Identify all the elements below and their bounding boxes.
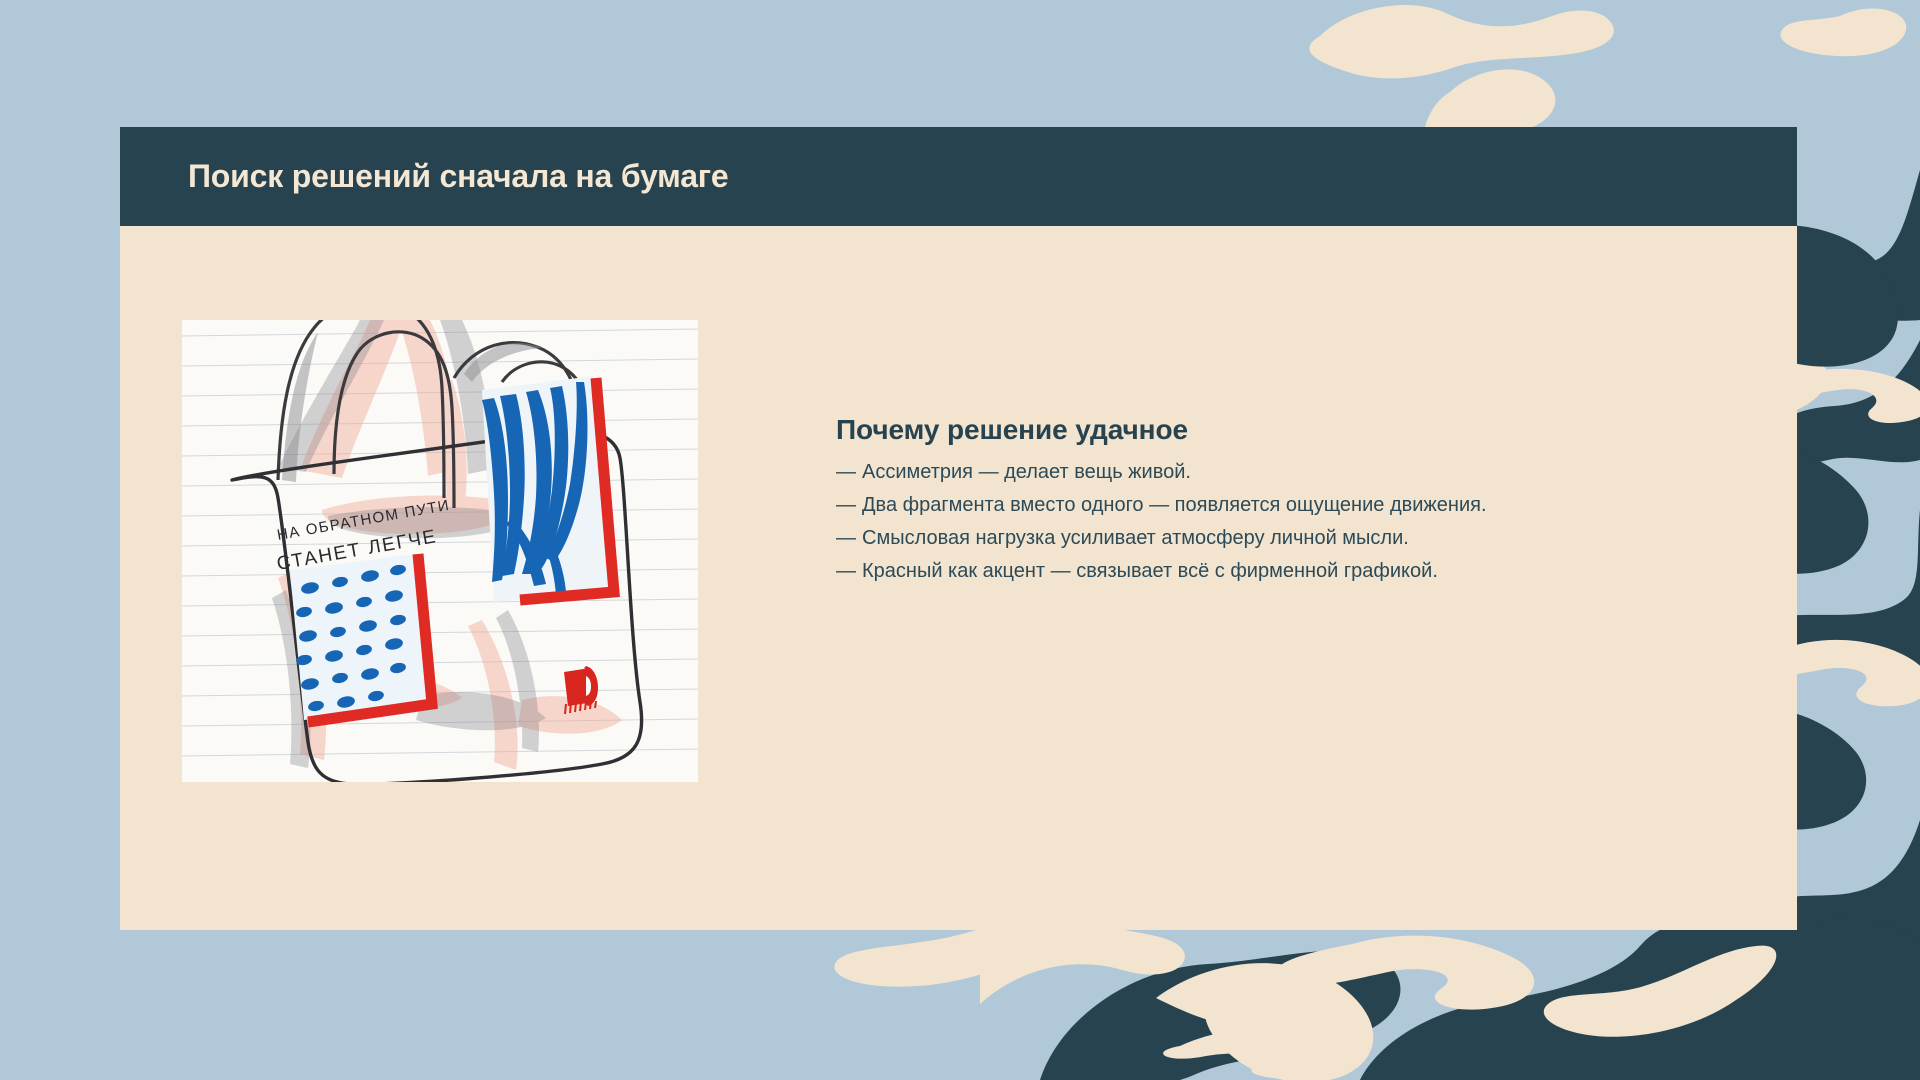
list-item: — Смысловая нагрузка усиливает атмосферу… — [836, 522, 1696, 555]
slide-body: НА ОБРАТНОМ ПУТИ СТАНЕТ ЛЕГЧЕ — [120, 226, 1797, 930]
slide-title: Поиск решений сначала на бумаге — [188, 158, 729, 195]
slide-header-bar: Поиск решений сначала на бумаге — [120, 127, 1797, 226]
bullet-dash-icon: — — [836, 555, 862, 588]
body-heading: Почему решение удачное — [836, 414, 1696, 446]
panel-dots-lower — [290, 554, 432, 722]
bullet-dash-icon: — — [836, 456, 862, 489]
bullet-text: Ассиметрия — делает вещь живой. — [862, 456, 1191, 489]
bullet-list: — Ассиметрия — делает вещь живой. — Два … — [836, 456, 1696, 588]
sketch-image: НА ОБРАТНОМ ПУТИ СТАНЕТ ЛЕГЧЕ — [182, 320, 698, 782]
list-item: — Два фрагмента вместо одного — появляет… — [836, 489, 1696, 522]
list-item: — Красный как акцент — связывает всё с ф… — [836, 555, 1696, 588]
text-column: Почему решение удачное — Ассиметрия — де… — [836, 414, 1696, 588]
slide-card: Поиск решений сначала на бумаге — [120, 127, 1797, 930]
tote-bag-sketch: НА ОБРАТНОМ ПУТИ СТАНЕТ ЛЕГЧЕ — [182, 320, 698, 782]
list-item: — Ассиметрия — делает вещь живой. — [836, 456, 1696, 489]
bullet-dash-icon: — — [836, 489, 862, 522]
panel-stripes-upper — [482, 376, 614, 602]
bullet-text: Смысловая нагрузка усиливает атмосферу л… — [862, 522, 1409, 555]
bullet-dash-icon: — — [836, 522, 862, 555]
bullet-text: Два фрагмента вместо одного — появляется… — [862, 489, 1487, 522]
bullet-text: Красный как акцент — связывает всё с фир… — [862, 555, 1438, 588]
